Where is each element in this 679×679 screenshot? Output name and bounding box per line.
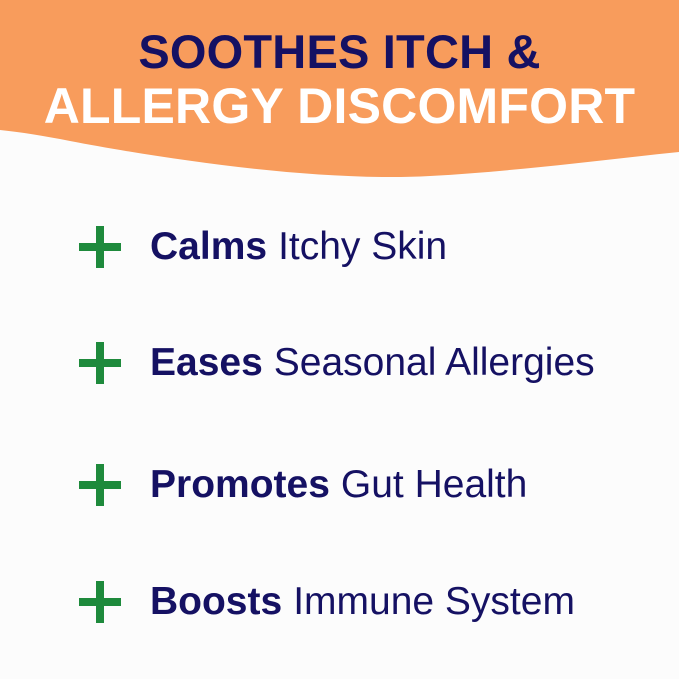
header-band: SOOTHES ITCH & ALLERGY DISCOMFORT (0, 0, 679, 190)
headline-line-2: ALLERGY DISCOMFORT (0, 78, 679, 134)
benefit-emphasis: Boosts (150, 580, 282, 624)
plus-icon (79, 226, 121, 268)
plus-icon (79, 464, 121, 506)
list-item: Eases Seasonal Allergies (0, 328, 679, 398)
benefit-emphasis: Promotes (150, 463, 330, 507)
plus-icon (79, 342, 121, 384)
headline-block: SOOTHES ITCH & ALLERGY DISCOMFORT (0, 0, 679, 134)
benefit-text: Boosts Immune System (150, 567, 575, 637)
list-item: Calms Itchy Skin (0, 212, 679, 282)
benefit-detail: Immune System (282, 580, 575, 624)
benefit-emphasis: Calms (150, 225, 267, 269)
benefit-text: Eases Seasonal Allergies (150, 328, 595, 398)
benefit-detail: Itchy Skin (267, 225, 447, 269)
benefit-text: Promotes Gut Health (150, 450, 527, 520)
benefit-text: Calms Itchy Skin (150, 212, 447, 282)
list-item: Promotes Gut Health (0, 450, 679, 520)
plus-icon (79, 581, 121, 623)
benefit-detail: Gut Health (330, 463, 527, 507)
benefit-list: Calms Itchy Skin Eases Seasonal Allergie… (0, 190, 679, 679)
headline-line-1: SOOTHES ITCH & (0, 0, 679, 78)
benefit-emphasis: Eases (150, 341, 263, 385)
benefit-detail: Seasonal Allergies (263, 341, 595, 385)
product-benefits-infographic: SOOTHES ITCH & ALLERGY DISCOMFORT Calms … (0, 0, 679, 679)
list-item: Boosts Immune System (0, 567, 679, 637)
